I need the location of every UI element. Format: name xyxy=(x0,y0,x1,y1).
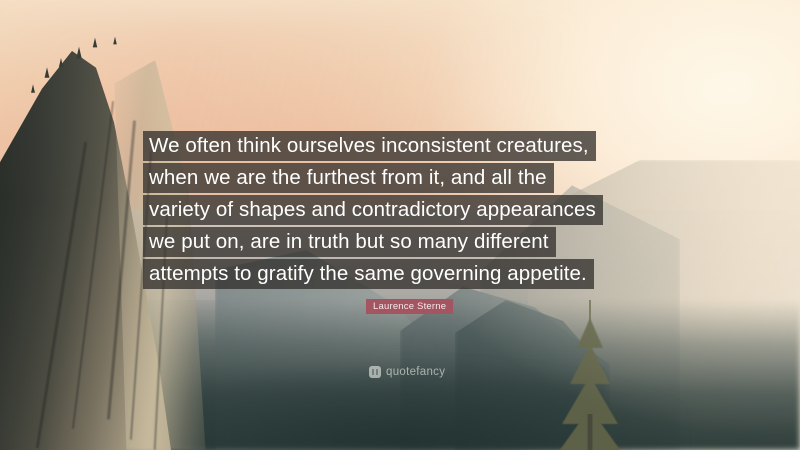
quote-line: We often think ourselves inconsistent cr… xyxy=(143,131,596,161)
quote-mark-icon xyxy=(369,366,381,378)
quote-image: We often think ourselves inconsistent cr… xyxy=(0,0,800,450)
foreground-pine-tree xyxy=(530,304,650,450)
ridge-tree xyxy=(59,58,63,67)
quote-mark-bar xyxy=(372,369,375,375)
quote-line: attempts to gratify the same governing a… xyxy=(143,259,594,289)
ridge-tree xyxy=(45,67,50,77)
author-badge[interactable]: Laurence Sterne xyxy=(366,299,453,314)
quotefancy-watermark[interactable]: quotefancy xyxy=(369,366,445,378)
pine-trunk xyxy=(588,414,593,450)
quote-line: variety of shapes and contradictory appe… xyxy=(143,195,603,225)
watermark-label: quotefancy xyxy=(386,366,445,378)
quote-mark-bar xyxy=(376,369,379,375)
quote-line: when we are the furthest from it, and al… xyxy=(143,163,554,193)
quote-text-block: We often think ourselves inconsistent cr… xyxy=(143,131,683,289)
quote-line: we put on, are in truth but so many diff… xyxy=(143,227,556,257)
ridge-tree xyxy=(31,84,35,92)
ridge-tree xyxy=(93,38,98,48)
ridge-tree xyxy=(76,47,81,59)
ridge-tree xyxy=(113,37,117,45)
